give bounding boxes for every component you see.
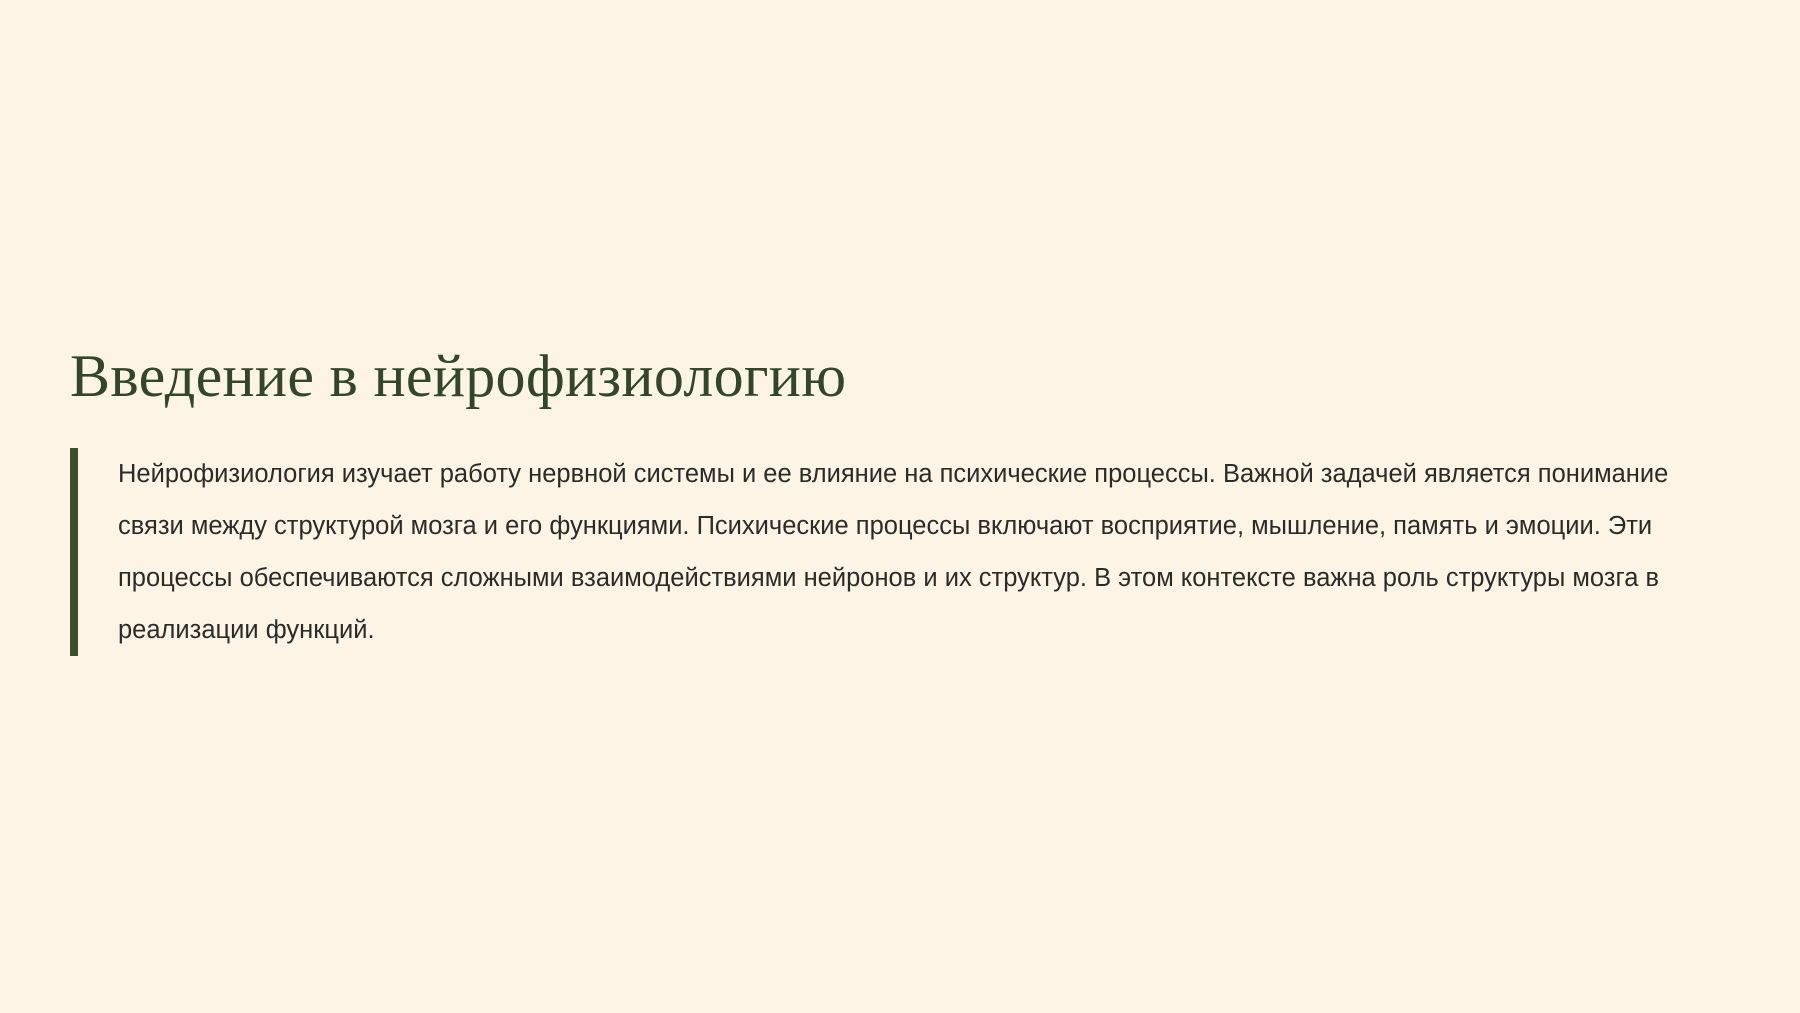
accent-bar <box>70 448 78 656</box>
slide-content: Введение в нейрофизиологию Нейрофизиолог… <box>70 343 1710 656</box>
body-paragraph: Нейрофизиология изучает работу нервной с… <box>78 448 1710 656</box>
slide-canvas: Введение в нейрофизиологию Нейрофизиолог… <box>0 0 1800 1013</box>
body-section: Нейрофизиология изучает работу нервной с… <box>70 448 1710 656</box>
page-title: Введение в нейрофизиологию <box>70 343 1710 410</box>
